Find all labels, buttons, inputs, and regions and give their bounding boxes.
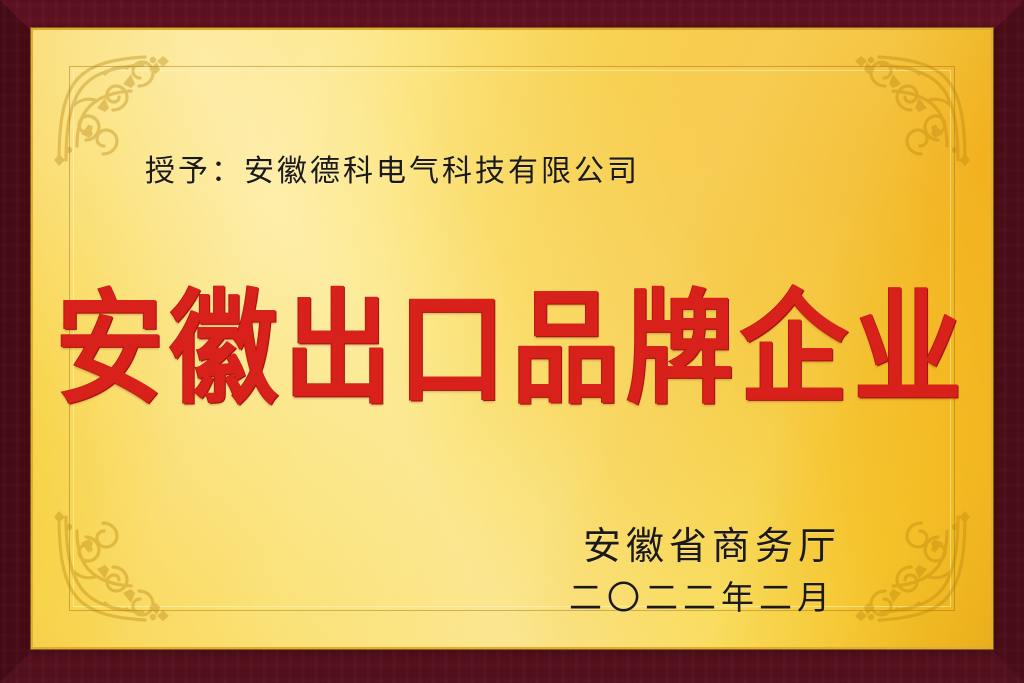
corner-ornament-top-right: [843, 50, 971, 168]
issuing-authority: 安徽省商务厅: [583, 515, 841, 570]
plaque-title: 安徽出口品牌企业: [33, 282, 991, 420]
corner-ornament-bottom-right: [843, 509, 971, 627]
corner-ornament-bottom-left: [53, 509, 181, 627]
award-plaque: 授予：安徽德科电气科技有限公司 安徽出口品牌企业 安徽省商务厅 二〇二二年二月: [0, 0, 1024, 683]
issue-date: 二〇二二年二月: [569, 571, 835, 619]
awardee-line: 授予：安徽德科电气科技有限公司: [145, 146, 640, 190]
gold-panel: 授予：安徽德科电气科技有限公司 安徽出口品牌企业 安徽省商务厅 二〇二二年二月: [33, 30, 991, 647]
